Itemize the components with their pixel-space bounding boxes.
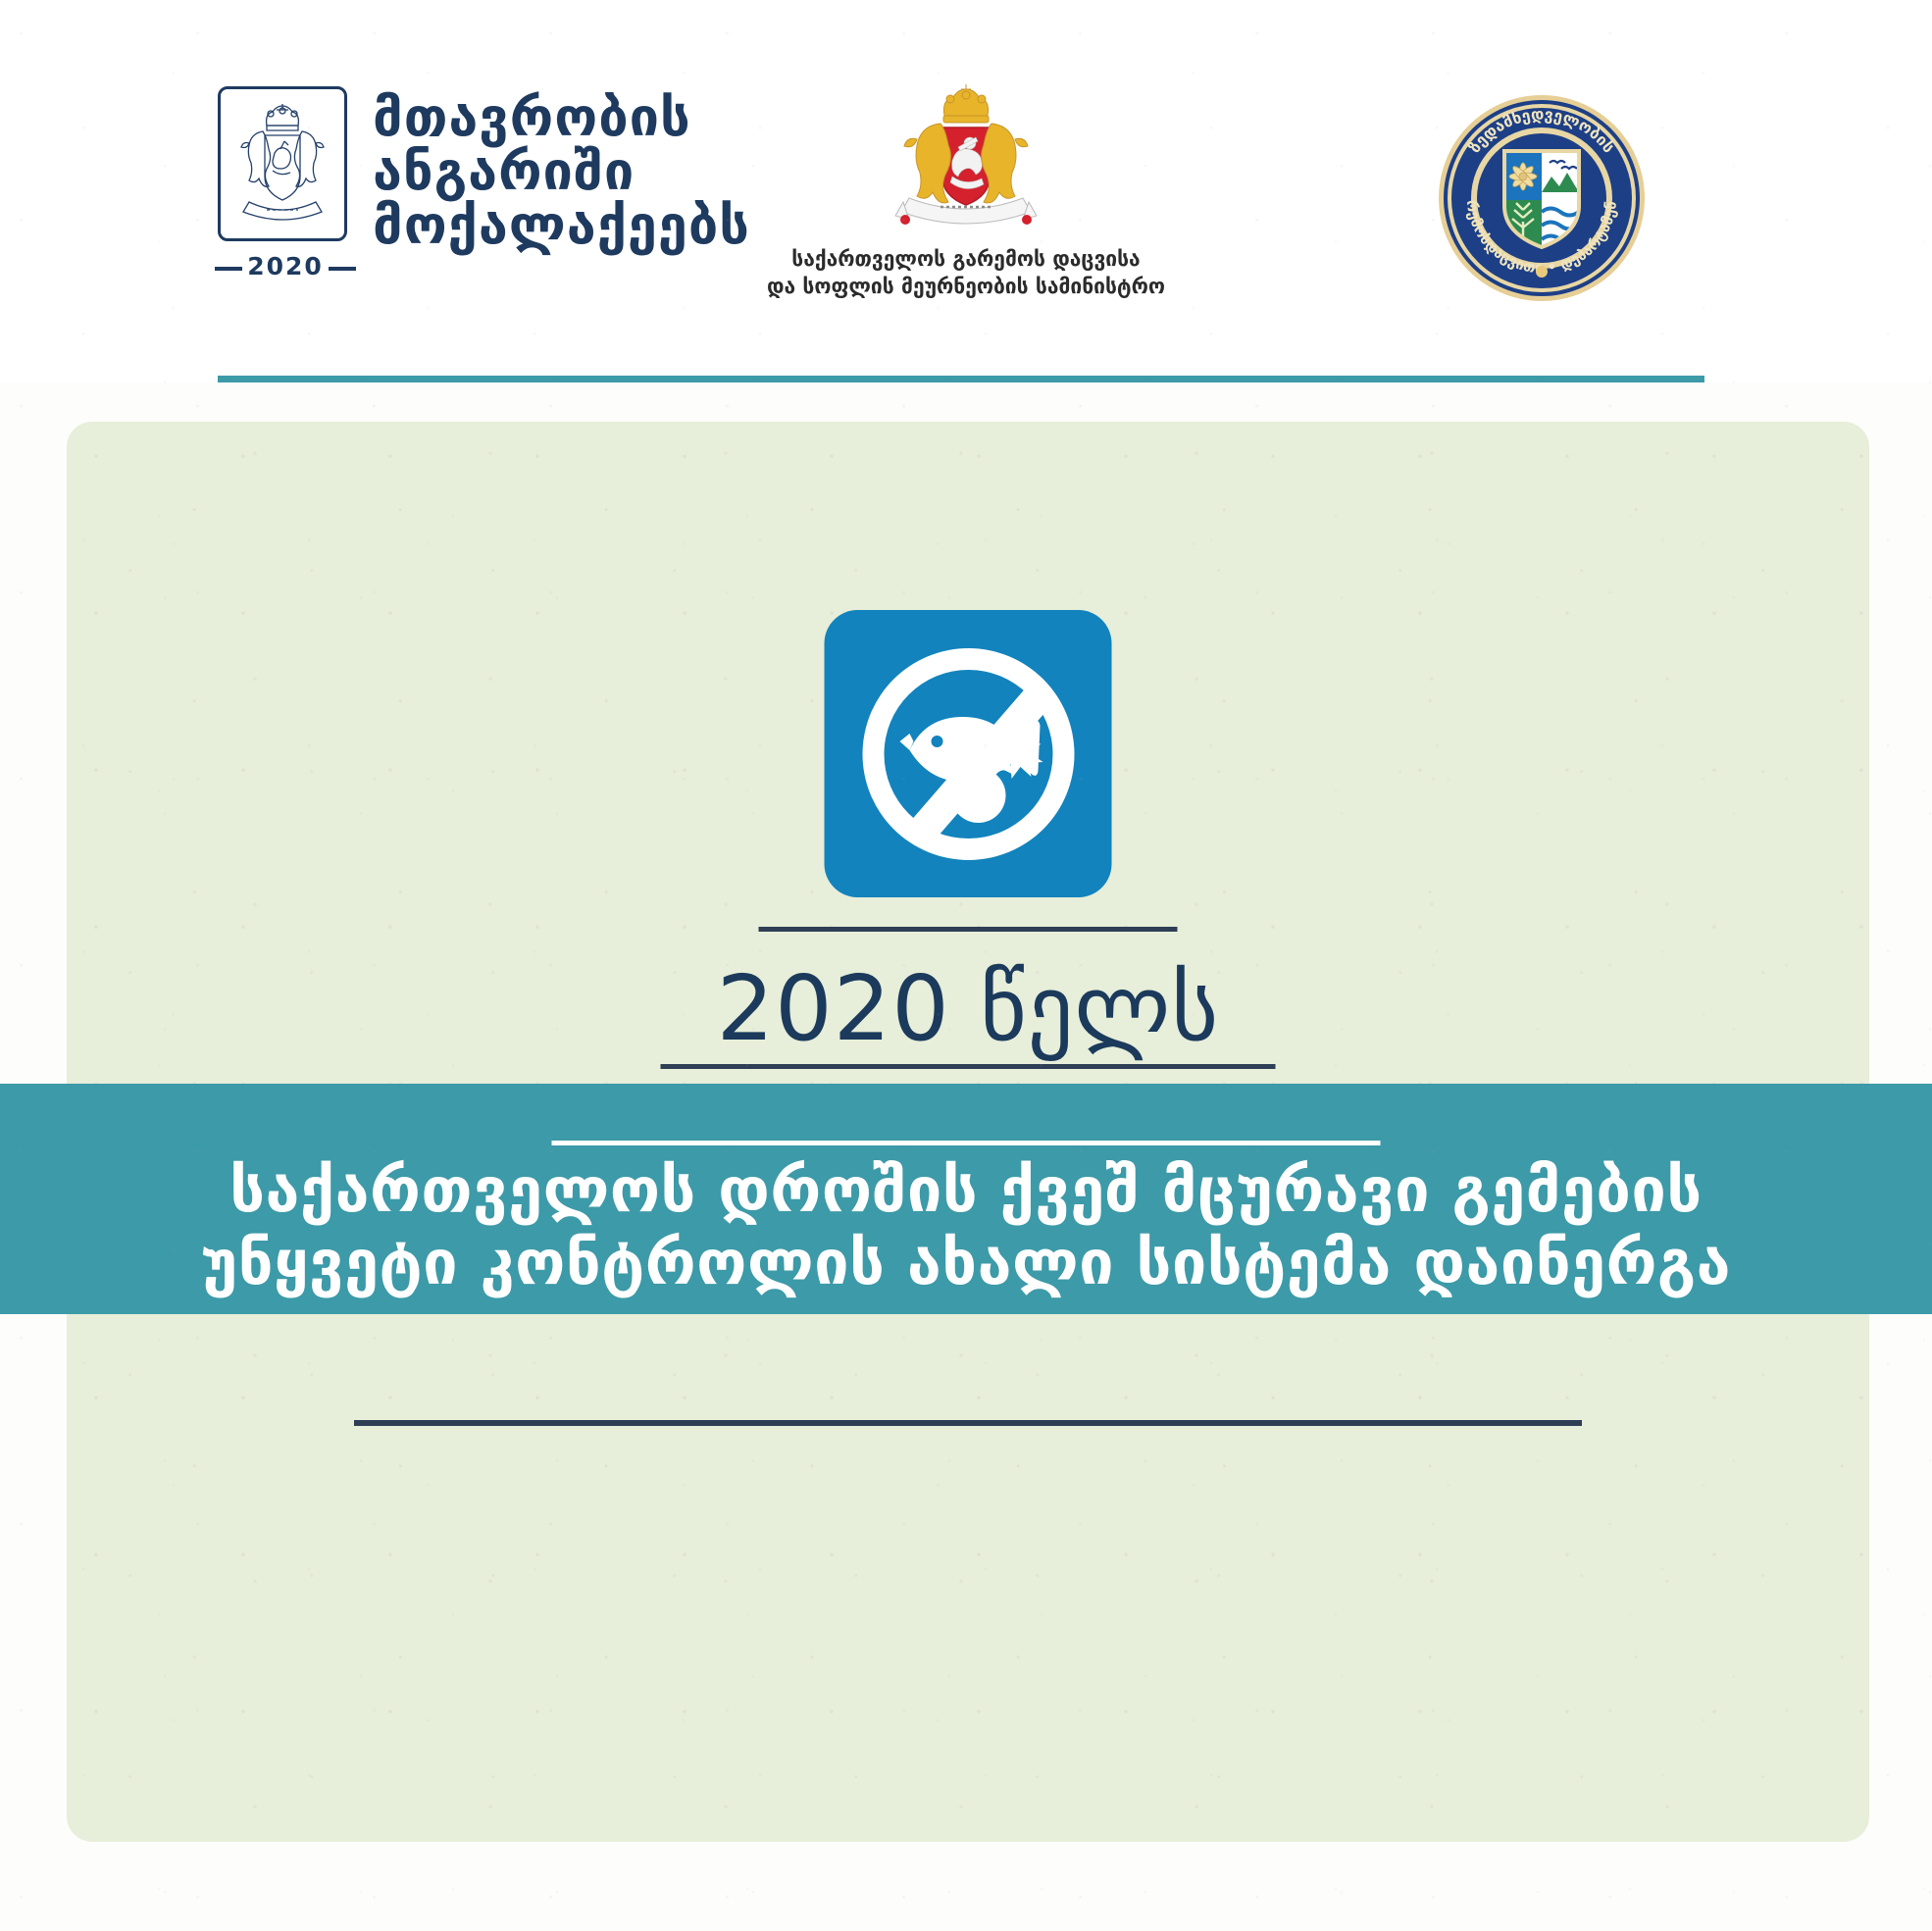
left-logo-year: 2020 xyxy=(221,252,350,280)
year-top-divider xyxy=(759,927,1178,932)
headline-line-2: უნყვეტი კონტროლის ახალი სისტემა დაინერგა xyxy=(0,1227,1932,1299)
headline-banner: საქართველოს დროშის ქვეშ მცურავი გემების … xyxy=(0,1084,1932,1314)
poster-page: 2020 მთავრობის ანგარიში მოქალაქეებს xyxy=(0,0,1932,1931)
left-logo-block: 2020 მთავრობის ანგარიში მოქალაქეებს xyxy=(218,86,750,252)
year-label: 2020 წელს xyxy=(67,956,1869,1061)
georgia-coat-of-arms-icon xyxy=(884,78,1048,233)
ministry-line-2: და სოფლის მეურნეობის სამინისტრო xyxy=(691,273,1241,300)
no-dynamite-fishing-badge xyxy=(825,610,1112,897)
header: 2020 მთავრობის ანგარიში მოქალაქეებს xyxy=(0,0,1932,382)
coat-of-arms-outline-icon xyxy=(228,96,337,231)
headline-line-1: საქართველოს დროშის ქვეშ მცურავი გემების xyxy=(0,1154,1932,1227)
headline-text: საქართველოს დროშის ქვეშ მცურავი გემების … xyxy=(0,1154,1932,1300)
government-report-crest-icon: 2020 xyxy=(218,86,347,241)
no-dynamite-fishing-icon xyxy=(854,640,1082,868)
year-bottom-divider xyxy=(661,1064,1276,1069)
environmental-supervision-seal-icon: ზედამხედველობის გარემოსდაცვითი • დეპარტა… xyxy=(1434,90,1650,306)
center-logo-block: საქართველოს გარემოს დაცვისა და სოფლის მე… xyxy=(691,78,1241,301)
right-logo-block: ზედამხედველობის გარემოსდაცვითი • დეპარტა… xyxy=(1434,90,1650,306)
ministry-line-1: საქართველოს გარემოს დაცვისა xyxy=(691,245,1241,273)
banner-divider xyxy=(552,1141,1381,1145)
header-divider xyxy=(218,376,1704,382)
card-bottom-divider xyxy=(354,1420,1582,1426)
ministry-name: საქართველოს გარემოს დაცვისა და სოფლის მე… xyxy=(691,245,1241,301)
